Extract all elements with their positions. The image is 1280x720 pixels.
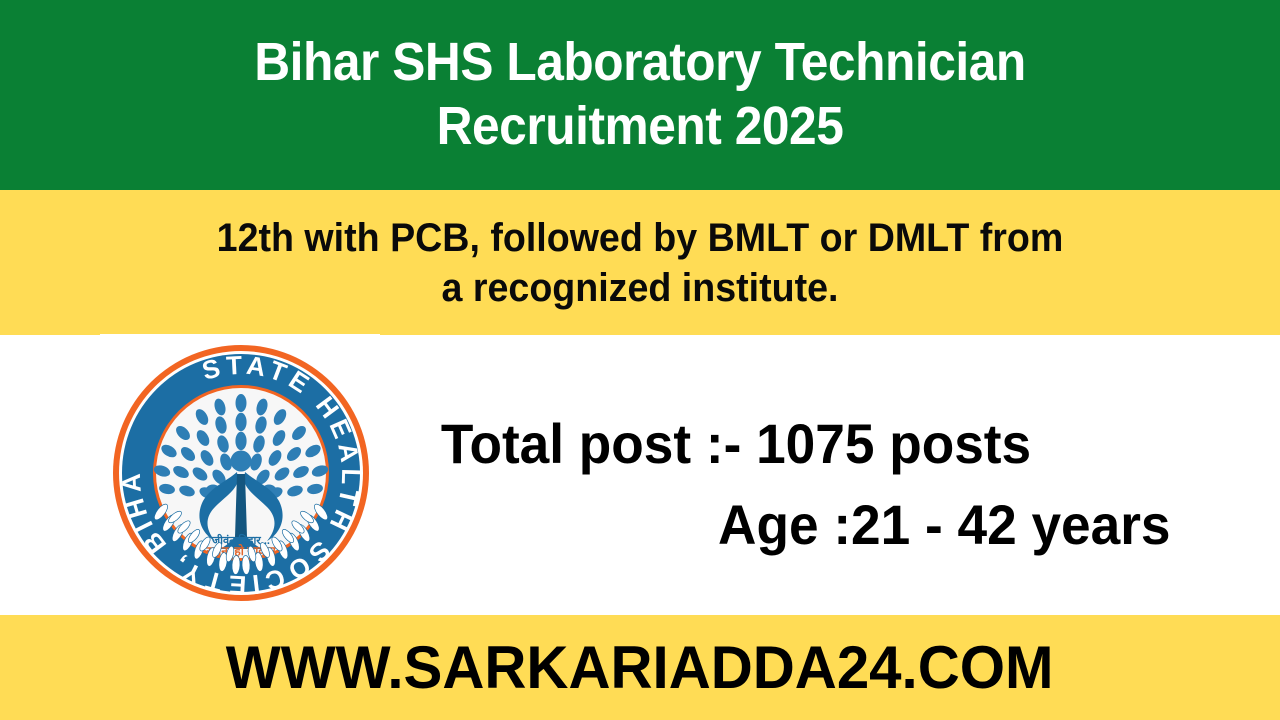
page-title-line-1: Bihar SHS Laboratory Technician	[180, 31, 1100, 95]
page-title: Bihar SHS Laboratory Technician Recruitm…	[180, 31, 1100, 158]
website-url[interactable]: WWW.SARKARIADDA24.COM	[226, 633, 1054, 702]
qualification-text: 12th with PCB, followed by BMLT or DMLT …	[142, 213, 1138, 313]
total-posts-text: Total post :- 1075 posts	[420, 415, 1180, 474]
key-facts: Total post :- 1075 posts Age :21 - 42 ye…	[400, 380, 1200, 590]
footer-band: WWW.SARKARIADDA24.COM	[0, 615, 1280, 720]
qualification-line-2: a recognized institute.	[142, 263, 1138, 313]
age-limit-text: Age :21 - 42 years	[420, 496, 1180, 555]
qualification-band: 12th with PCB, followed by BMLT or DMLT …	[0, 190, 1280, 335]
emblem-icon: STATE HEALTH SOCIETY, BIHAR	[107, 341, 375, 605]
header-band: Bihar SHS Laboratory Technician Recruitm…	[0, 0, 1280, 190]
page-title-line-2: Recruitment 2025	[180, 95, 1100, 159]
qualification-line-1: 12th with PCB, followed by BMLT or DMLT …	[142, 213, 1138, 263]
state-health-society-bihar-logo: STATE HEALTH SOCIETY, BIHAR	[107, 341, 375, 605]
recruitment-poster: Bihar SHS Laboratory Technician Recruitm…	[0, 0, 1280, 720]
